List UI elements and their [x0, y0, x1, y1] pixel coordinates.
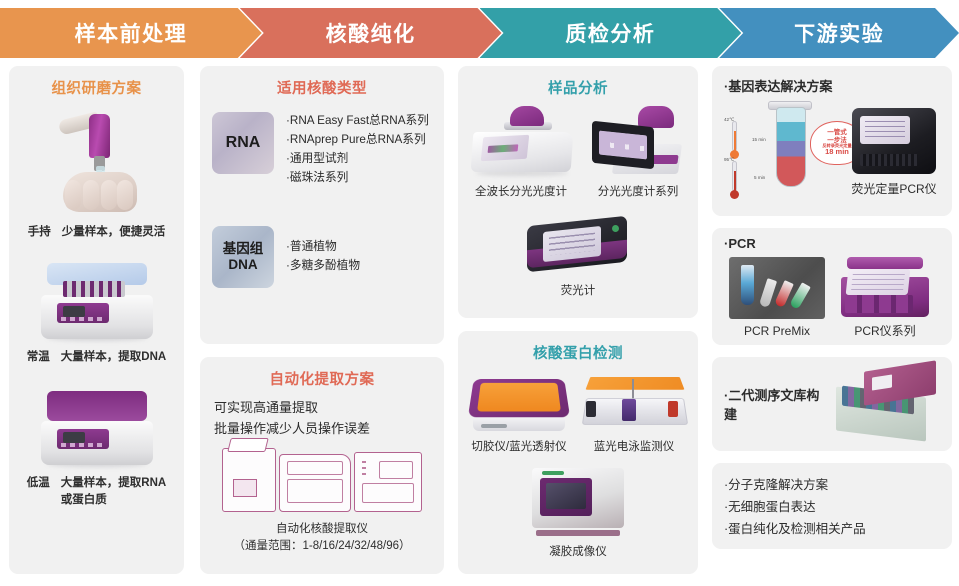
card-title: 样品分析 [468, 66, 688, 98]
card-title: 核酸蛋白检测 [466, 331, 690, 363]
fluorometer-icon [519, 215, 637, 277]
product-label: 切胶仪/蓝光透射仪 [466, 439, 572, 456]
extractor-medium-icon [279, 454, 351, 512]
swatch-label: RNA [226, 134, 261, 152]
column-purification: 适用核酸类型 RNA ·RNA Easy Fast总RNA系列 ·RNAprep… [193, 66, 451, 586]
list-item: ·RNA Easy Fast总RNA系列 [286, 112, 429, 131]
grinder-label: 常温 [27, 349, 50, 366]
handheld-homogenizer-icon [45, 110, 149, 214]
column-qc-analysis: 样品分析 全波长分光光度计 [451, 66, 705, 586]
spectrophotometer-series-icon [586, 104, 690, 182]
step-label: 核酸纯化 [326, 18, 416, 48]
extractor-small-icon [222, 448, 276, 512]
grinder-caption-1: 手持 少量样本，便捷灵活 [19, 224, 174, 241]
list-item: ·RNAprep Pure总RNA系列 [286, 131, 429, 150]
card-title: 组织研磨方案 [19, 66, 174, 98]
grinder-caption-3: 低温 大量样本，提取RNA 或蛋白质 [19, 475, 174, 508]
card-pcr[interactable]: ·PCR PCR PreMix [712, 228, 952, 345]
pcr-cycler-icon [833, 253, 937, 321]
column-downstream: ·基因表达解决方案 42℃ 15 min 95℃ 5 min [705, 66, 959, 586]
card-sample-analysis[interactable]: 样品分析 全波长分光光度计 [458, 66, 698, 318]
swatch-label-line2: DNA [228, 257, 257, 273]
thermo-time-2: 5 min [754, 175, 765, 180]
card-gene-expression[interactable]: ·基因表达解决方案 42℃ 15 min 95℃ 5 min [712, 66, 952, 216]
card-automated-extraction[interactable]: 自动化提取方案 可实现高通量提取 批量操作减少人员操作误差 自动化核酸提取仪 （… [200, 357, 444, 574]
step-slot-2: 核酸纯化 [240, 8, 480, 58]
step-label: 下游实验 [794, 18, 884, 48]
grinder-desc: 大量样本，提取RNA 或蛋白质 [61, 475, 166, 508]
dna-product-list: ·普通植物 ·多糖多酚植物 [286, 238, 360, 276]
step-arrow-qc[interactable]: 质检分析 [480, 8, 742, 58]
benefit-line: 批量操作减少人员操作误差 [214, 418, 430, 439]
list-item: ·普通植物 [286, 238, 360, 257]
product-label: PCR仪系列 [831, 323, 939, 340]
card-other-solutions[interactable]: ·分子克隆解决方案 ·无细胞蛋白表达 ·蛋白纯化及检测相关产品 [712, 463, 952, 549]
grinder-desc-line2: 或蛋白质 [61, 494, 107, 506]
grinder-label: 低温 [27, 475, 50, 492]
step-arrow-purification[interactable]: 核酸纯化 [240, 8, 502, 58]
gel-imaging-system-icon [526, 462, 630, 538]
grinder-desc: 少量样本，便捷灵活 [62, 224, 166, 241]
automated-extractor-icons [214, 448, 430, 512]
list-item: ·多糖多酚植物 [286, 257, 360, 276]
list-item: ·无细胞蛋白表达 [724, 497, 940, 519]
caption-line: 自动化核酸提取仪 [214, 521, 430, 538]
swatch-label-line1: 基因组 [223, 241, 264, 257]
full-wavelength-spectrophotometer-icon [466, 104, 578, 178]
step-label: 样本前处理 [75, 18, 188, 48]
extractor-large-icon [354, 452, 422, 512]
product-label: 蓝光电泳监测仪 [578, 439, 690, 456]
card-title: 自动化提取方案 [214, 357, 430, 389]
thermo-temp-2: 95℃ [724, 157, 734, 163]
extractor-caption: 自动化核酸提取仪 （通量范围：1-8/16/24/32/48/96） [214, 521, 430, 554]
caption-line: （通量范围：1-8/16/24/32/48/96） [214, 538, 430, 555]
list-item: ·磁珠法系列 [286, 169, 429, 188]
low-temp-grinder-icon [33, 385, 161, 467]
blue-light-electrophoresis-monitor-icon [578, 369, 690, 435]
grinder-label: 手持 [28, 224, 51, 241]
content-columns: 组织研磨方案 手持 少量样本，便捷灵活 [0, 66, 959, 586]
product-label: PCR PreMix [725, 323, 829, 340]
grinder-caption-2: 常温 大量样本，提取DNA [19, 349, 174, 366]
qpcr-instrument-icon [848, 104, 940, 178]
rna-cell-swatch-icon: RNA [212, 112, 274, 174]
pcr-premix-icon [729, 257, 825, 319]
card-heading: ·二代测序文库构建 [724, 385, 828, 423]
step-arrow-downstream[interactable]: 下游实验 [719, 8, 959, 58]
product-label: 凝胶成像仪 [466, 544, 690, 561]
workflow-step-bar: 样本前处理 核酸纯化 质检分析 下游实验 [0, 8, 959, 58]
column-sample-prep: 组织研磨方案 手持 少量样本，便捷灵活 [0, 66, 193, 586]
card-heading: ·基因表达解决方案 [724, 76, 940, 95]
product-label: 荧光计 [468, 283, 688, 300]
list-item: ·通用型试剂 [286, 150, 429, 169]
thermo-temp-1: 42℃ [724, 117, 734, 123]
card-title: 适用核酸类型 [212, 66, 432, 98]
step-slot-1: 样本前处理 [0, 8, 240, 58]
rna-product-list: ·RNA Easy Fast总RNA系列 ·RNAprep Pure总RNA系列… [286, 112, 429, 188]
card-heading: ·PCR [724, 236, 940, 251]
workflow-infographic: 样本前处理 核酸纯化 质检分析 下游实验 组织研磨方案 [0, 0, 959, 586]
benefit-line: 可实现高通量提取 [214, 397, 430, 418]
grinder-desc-line1: 大量样本，提取RNA [61, 477, 166, 489]
one-step-rt-qpcr-illustration-icon: 42℃ 15 min 95℃ 5 min 一管式 一步法 反转录荧光定量 [724, 99, 844, 203]
card-ngs-library[interactable]: ·二代测序文库构建 [712, 357, 952, 451]
grinder-desc: 大量样本，提取DNA [61, 349, 166, 366]
list-item: ·分子克隆解决方案 [724, 475, 940, 497]
genomic-dna-helix-swatch-icon: 基因组 DNA [212, 226, 274, 288]
step-slot-3: 质检分析 [480, 8, 720, 58]
ngs-library-kit-box-icon [828, 364, 940, 444]
step-label: 质检分析 [565, 18, 655, 48]
list-item: ·蛋白纯化及检测相关产品 [724, 519, 940, 541]
bubble-line1: 一管式 [827, 129, 847, 136]
product-label: 荧光定量PCR仪 [848, 181, 940, 198]
automation-benefits: 可实现高通量提取 批量操作减少人员操作误差 [214, 397, 430, 440]
card-nucleic-acid-types[interactable]: 适用核酸类型 RNA ·RNA Easy Fast总RNA系列 ·RNAprep… [200, 66, 444, 344]
other-solutions-list: ·分子克隆解决方案 ·无细胞蛋白表达 ·蛋白纯化及检测相关产品 [724, 475, 940, 541]
card-nucleic-protein-detection[interactable]: 核酸蛋白检测 切胶仪/蓝光透射仪 [458, 331, 698, 574]
room-temp-grinder-icon [33, 259, 161, 341]
product-label: 全波长分光光度计 [466, 184, 576, 201]
step-arrow-sample-prep[interactable]: 样本前处理 [0, 8, 262, 58]
thermo-time-1: 15 min [752, 137, 766, 142]
card-tissue-grinding[interactable]: 组织研磨方案 手持 少量样本，便捷灵活 [9, 66, 184, 574]
product-label: 分光光度计系列 [586, 184, 690, 201]
bubble-line4: 18 min [825, 148, 849, 156]
step-slot-4: 下游实验 [719, 8, 959, 58]
gel-cutter-blue-light-transilluminator-icon [467, 369, 571, 435]
